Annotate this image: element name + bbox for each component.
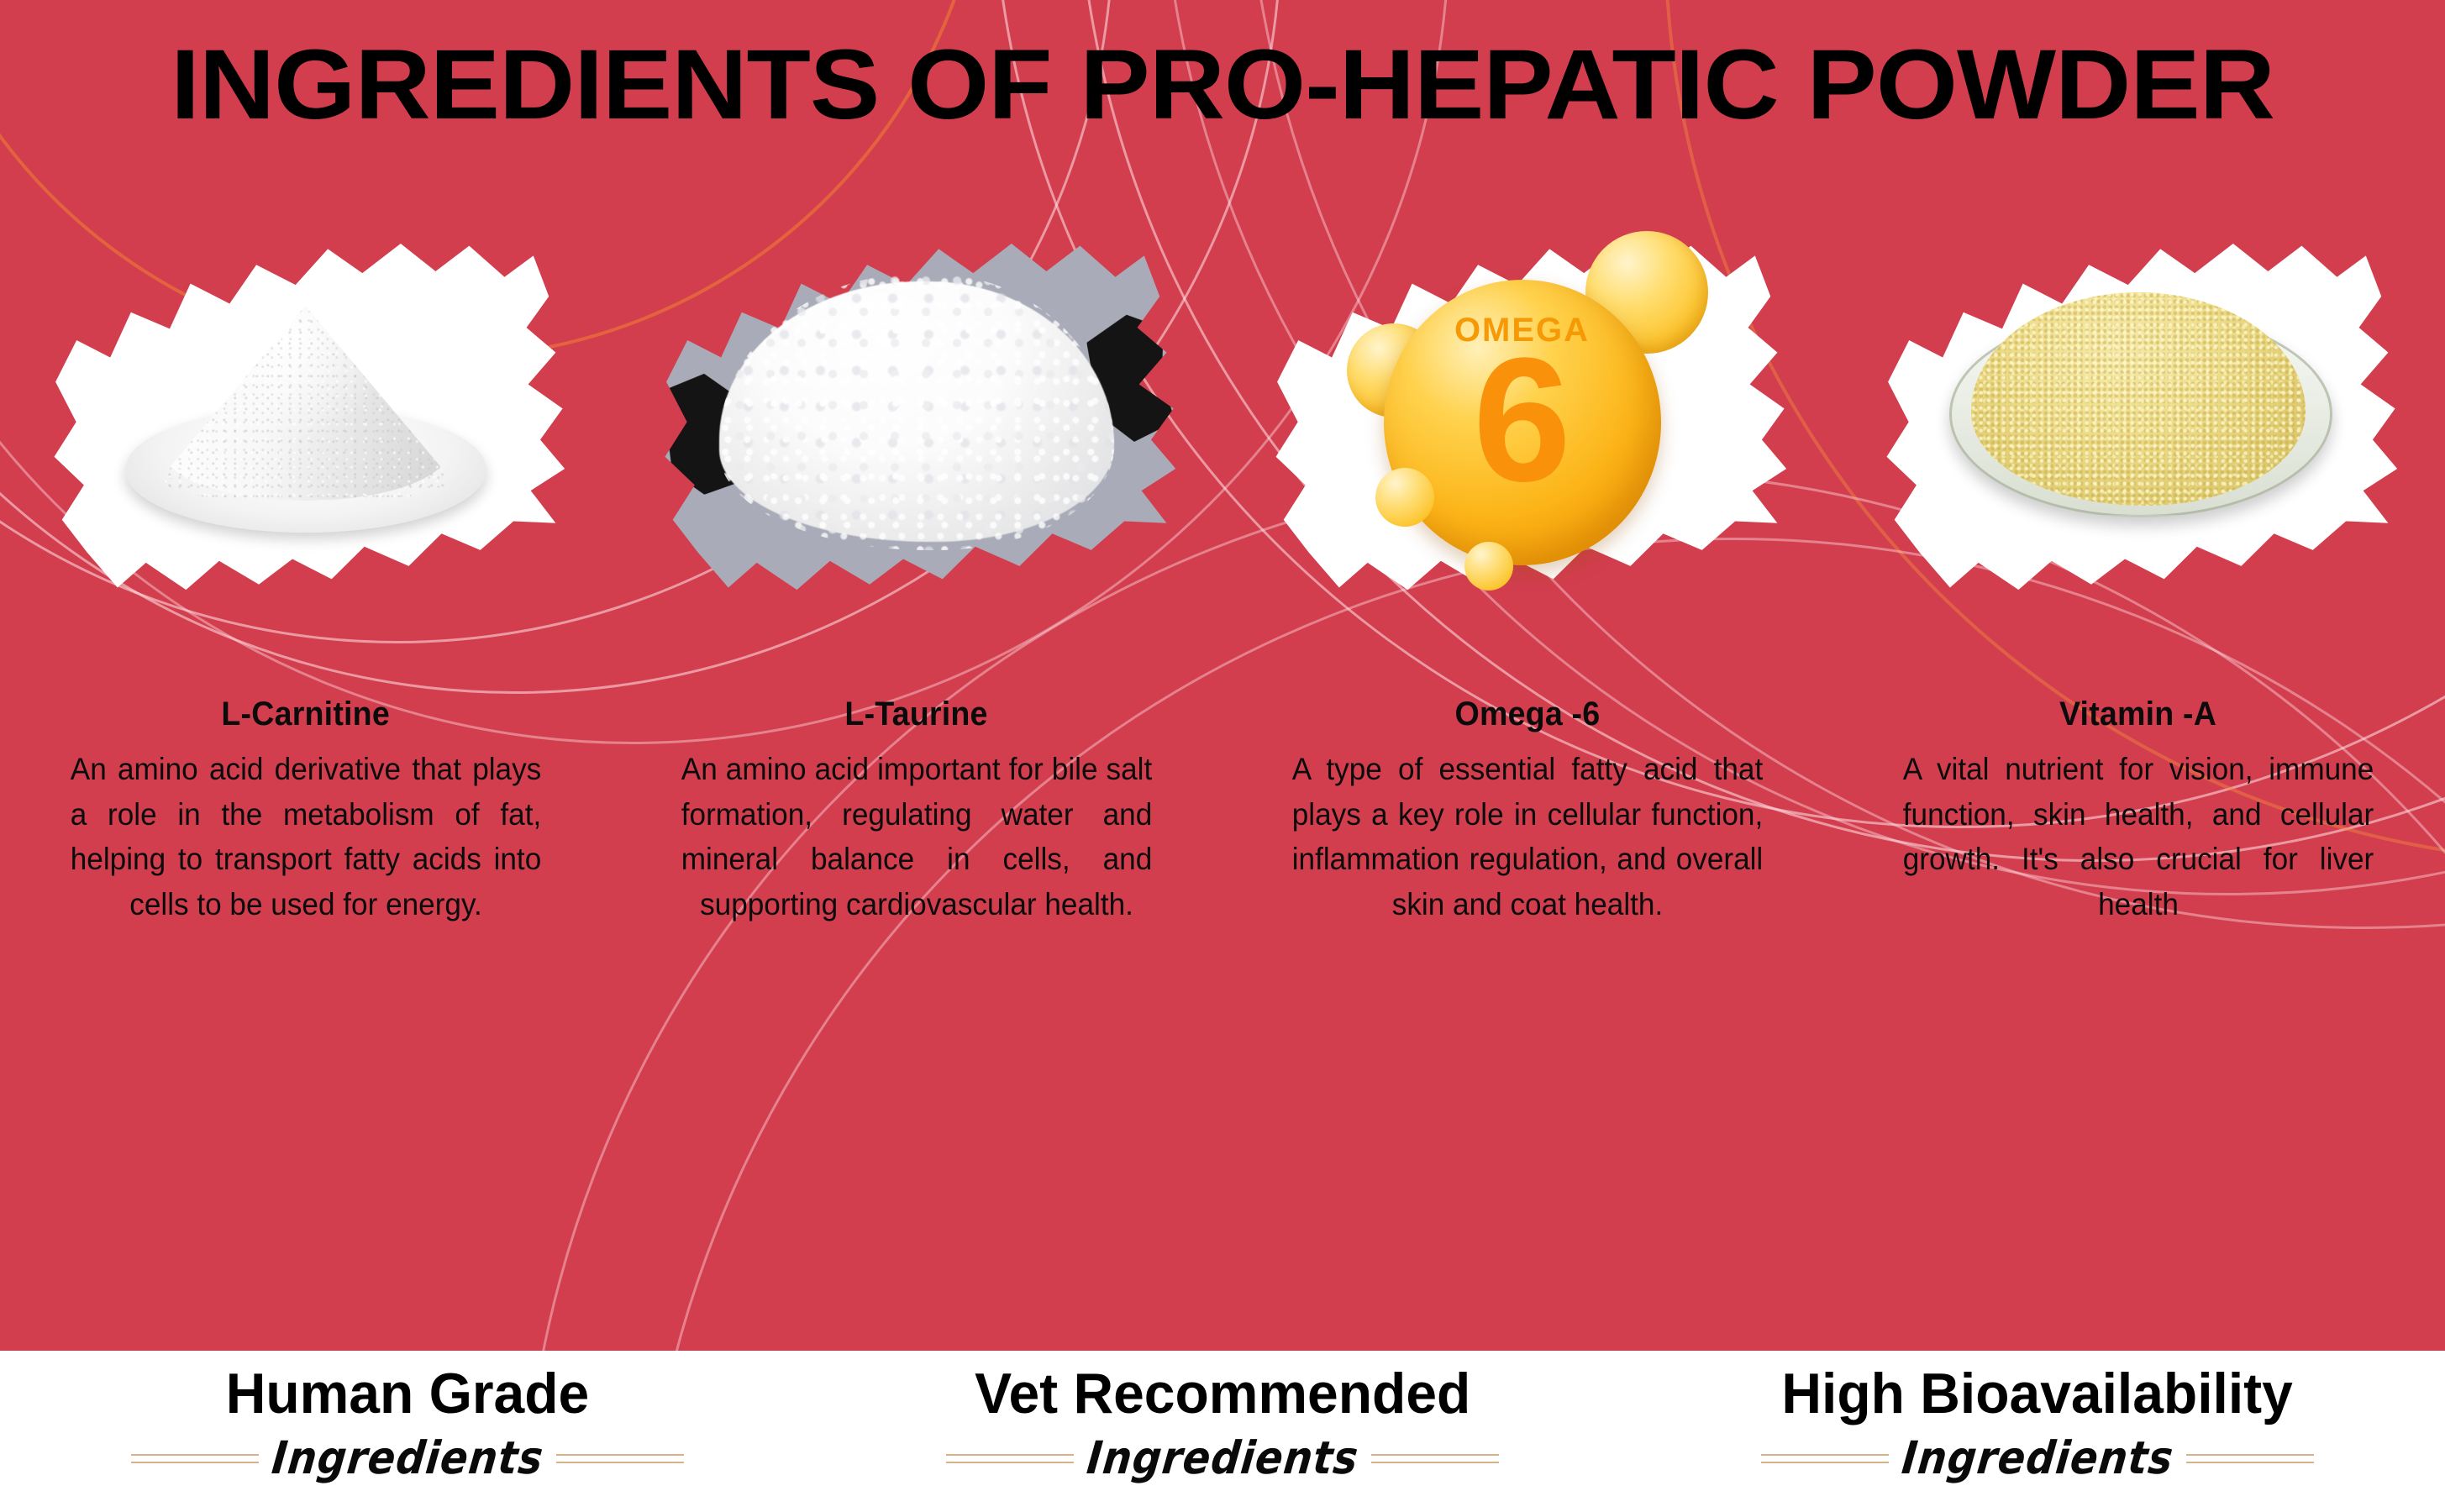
ingredient-name: Omega -6 [1454, 696, 1600, 733]
oil-bubble-icon [1464, 542, 1513, 591]
divider-line-right [556, 1454, 684, 1463]
ingredient-image-omega-6: OMEGA 6 [1233, 143, 1822, 680]
powder-grain-texture [1971, 292, 2306, 506]
claim-headline: High Bioavailability [1782, 1361, 2293, 1426]
white-powder-dish-icon [125, 286, 486, 538]
claim-subline-group: Ingredients [946, 1435, 1500, 1482]
divider-line-right [2186, 1454, 2314, 1463]
white-powder-mound-icon [719, 273, 1114, 550]
claim-human-grade: Human Grade Ingredients [0, 1351, 815, 1512]
claim-subline-group: Ingredients [1761, 1435, 2315, 1482]
claim-subline: Ingredients [1084, 1432, 1360, 1485]
divider-line-left [131, 1454, 259, 1463]
ingredient-description: A vital nutrient for vision, immune func… [1902, 747, 2374, 927]
ingredients-poster: INGREDIENTS OF PRO-HEPATIC POWDER L-Carn… [0, 0, 2445, 1512]
divider-line-right [1371, 1454, 1499, 1463]
divider-line-left [946, 1454, 1074, 1463]
ingredient-name: L-Taurine [844, 696, 987, 733]
yellow-powder-petri-icon [1949, 286, 2327, 538]
ingredient-columns: L-Carnitine An amino acid derivative tha… [0, 143, 2445, 1319]
ingredient-card-omega-6: OMEGA 6 Omega -6 A type of essential fat… [1222, 143, 1832, 1319]
claim-vet-recommended: Vet Recommended Ingredients [815, 1351, 1630, 1512]
ingredient-image-l-taurine [623, 143, 1211, 680]
claim-headline: Human Grade [226, 1361, 590, 1426]
claim-subline: Ingredients [269, 1432, 545, 1485]
ingredient-description: An amino acid derivative that plays a ro… [70, 747, 541, 927]
ingredient-description: A type of essential fatty acid that play… [1291, 747, 1763, 927]
omega-badge-number: 6 [1384, 332, 1661, 508]
omega-droplet-icon: OMEGA 6 [1347, 231, 1708, 592]
ingredient-name: L-Carnitine [221, 696, 390, 733]
powder-texture [719, 273, 1114, 550]
ingredient-card-vitamin-a: Vitamin -A A vital nutrient for vision, … [1832, 143, 2443, 1319]
powder-cone [163, 306, 449, 501]
footer-claims-bar: Human Grade Ingredients Vet Recommended … [0, 1351, 2445, 1512]
claim-headline: Vet Recommended [975, 1361, 1470, 1426]
ingredient-image-l-carnitine [12, 143, 600, 680]
claim-high-bioavailability: High Bioavailability Ingredients [1630, 1351, 2445, 1512]
divider-line-left [1761, 1454, 1889, 1463]
ingredient-image-vitamin-a [1844, 143, 2432, 680]
page-title: INGREDIENTS OF PRO-HEPATIC POWDER [0, 35, 2445, 134]
claim-subline-group: Ingredients [131, 1435, 685, 1482]
ingredient-card-l-carnitine: L-Carnitine An amino acid derivative tha… [0, 143, 611, 1319]
ingredient-card-l-taurine: L-Taurine An amino acid important for bi… [611, 143, 1222, 1319]
ingredient-description: An amino acid important for bile salt fo… [681, 747, 1152, 927]
ingredient-name: Vitamin -A [2059, 696, 2216, 733]
powder-grain-texture [163, 306, 449, 501]
claim-subline: Ingredients [1899, 1432, 2175, 1485]
yellow-powder [1971, 292, 2306, 506]
